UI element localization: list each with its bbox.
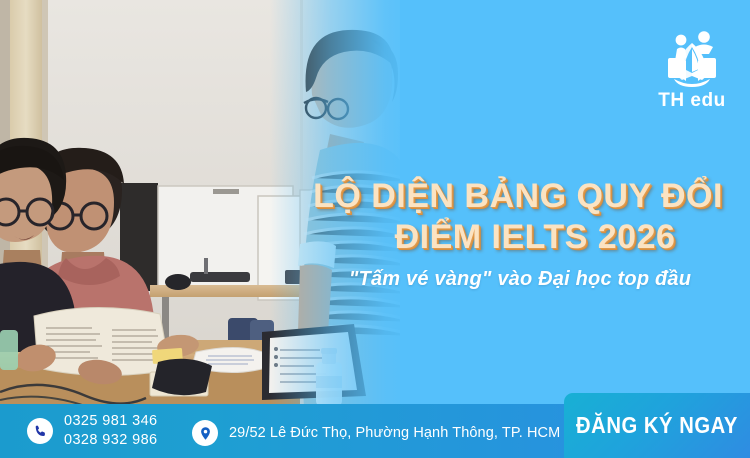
phone-icon [27, 418, 53, 444]
phone-number-2: 0328 932 986 [64, 431, 158, 450]
phone-contact[interactable]: 0325 981 346 0328 932 986 [27, 412, 158, 450]
subtitle: "Tấm vé vàng" vào Đại học top đầu [290, 268, 750, 291]
register-now-button[interactable]: ĐĂNG KÝ NGAY [564, 393, 750, 458]
map-pin-glyph [198, 426, 213, 441]
headline: LỘ DIỆN BẢNG QUY ĐỔI ĐIỂM IELTS 2026 [290, 176, 750, 259]
promotional-banner: TH edu LỘ DIỆN BẢNG QUY ĐỔI ĐIỂM IELTS 2… [0, 0, 750, 458]
brand-logo-text: TH edu [652, 90, 732, 112]
register-now-label: ĐĂNG KÝ NGAY [576, 412, 738, 439]
headline-line-1: LỘ DIỆN BẢNG QUY ĐỔI [290, 176, 750, 217]
phone-number-1: 0325 981 346 [64, 412, 158, 431]
open-book-with-two-figures-icon [652, 30, 732, 88]
phone-numbers: 0325 981 346 0328 932 986 [64, 412, 158, 450]
map-pin-icon [192, 420, 218, 446]
headline-line-2: ĐIỂM IELTS 2026 [290, 217, 750, 258]
address-text: 29/52 Lê Đức Thọ, Phường Hạnh Thông, TP.… [229, 425, 560, 441]
brand-logo[interactable]: TH edu [652, 30, 732, 120]
address-contact[interactable]: 29/52 Lê Đức Thọ, Phường Hạnh Thông, TP.… [192, 420, 560, 446]
phone-glyph [33, 424, 48, 439]
